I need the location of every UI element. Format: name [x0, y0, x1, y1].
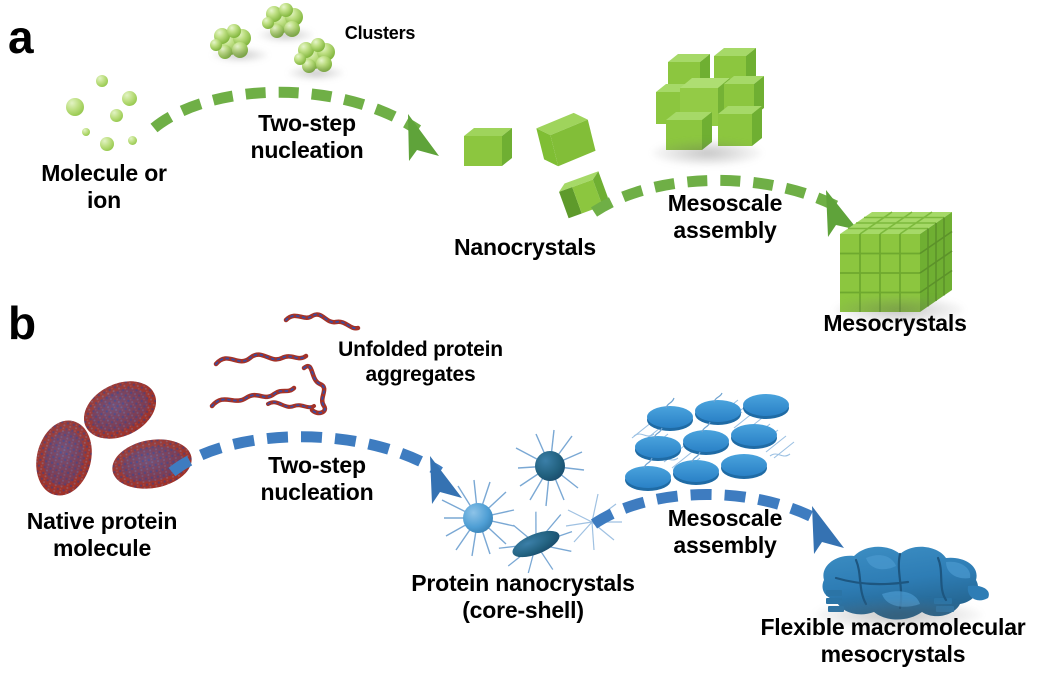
figure-root: a Molecule or ion: [0, 0, 1062, 689]
sphere-icon: [128, 136, 137, 145]
panel-letter-a: a: [8, 14, 34, 60]
two-step-nucleation-label-a: Two-step nucleation: [212, 110, 402, 164]
mesoscale-assembly-label-a: Mesoscale assembly: [630, 190, 820, 244]
cube-aggregate-art: [640, 40, 780, 170]
sphere-icon: [110, 109, 123, 122]
sphere-icon: [122, 91, 137, 106]
sphere-icon: [82, 128, 90, 136]
sphere-icon: [100, 137, 114, 151]
unfolded-protein-aggregates-label: Unfolded protein aggregates: [328, 338, 513, 388]
two-step-nucleation-label-b: Two-step nucleation: [222, 452, 412, 506]
mesocrystals-label: Mesocrystals: [800, 310, 990, 337]
molecule-or-ion-label: Molecule or ion: [6, 160, 202, 214]
native-protein-molecule-label: Native protein molecule: [2, 508, 202, 562]
protein-nanocrystals-label: Protein nanocrystals (core-shell): [388, 570, 658, 624]
sphere-icon: [96, 75, 108, 87]
sphere-icon: [66, 98, 84, 116]
clusters-label: Clusters: [325, 23, 435, 44]
mesoscale-assembly-label-b: Mesoscale assembly: [630, 505, 820, 559]
flexible-macromolecular-mesocrystals-label: Flexible macromolecular mesocrystals: [728, 614, 1058, 668]
panel-letter-b: b: [8, 300, 36, 346]
